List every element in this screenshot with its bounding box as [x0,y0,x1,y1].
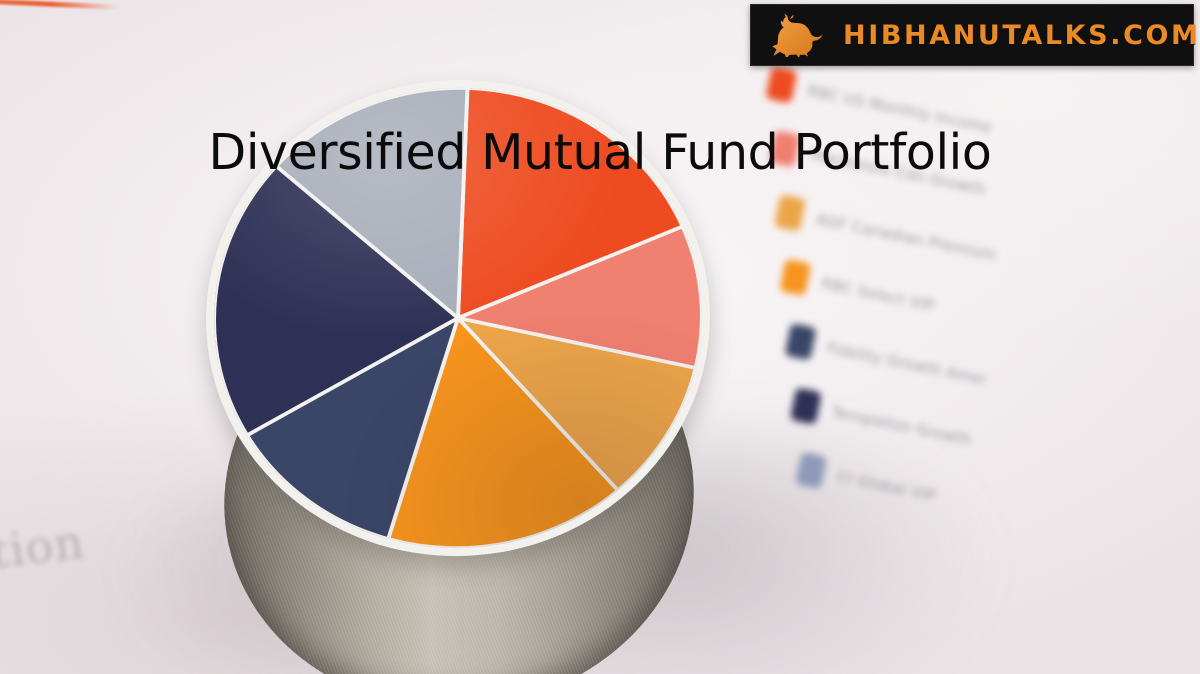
page-title: Diversified Mutual Fund Portfolio [0,128,1200,177]
legend-item: RBC Select VIP [779,259,937,322]
legend-swatch [774,194,806,232]
legend-swatch [790,387,822,425]
legend-item: Fidelity Growth Amer [785,323,991,396]
legend-item-label: Templeton Growth [831,403,974,449]
legend-item: AGF Canadian Premium [774,194,999,271]
legend-item-label: CI Global VIP [836,467,938,505]
legend-swatch [795,452,827,490]
screenshot-canvas: RBC US Monthly Income Mackenzie Cdn Grow… [0,0,1200,674]
legend-item-label: Fidelity Growth Amer [825,338,989,388]
legend-swatch [765,66,797,104]
legend-item-label: RBC Select VIP [820,274,936,315]
bull-icon [769,13,831,57]
legend-swatch [779,259,811,297]
legend-item: Templeton Growth [790,387,975,456]
watermark-logo-bar: HIBHANUTALKS.COM [750,4,1194,66]
watermark-brand-text: HIBHANUTALKS.COM [843,20,1200,51]
legend-item-label: AGF Canadian Premium [815,210,998,264]
legend-swatch [785,323,817,361]
legend-item: CI Global VIP [795,452,939,512]
